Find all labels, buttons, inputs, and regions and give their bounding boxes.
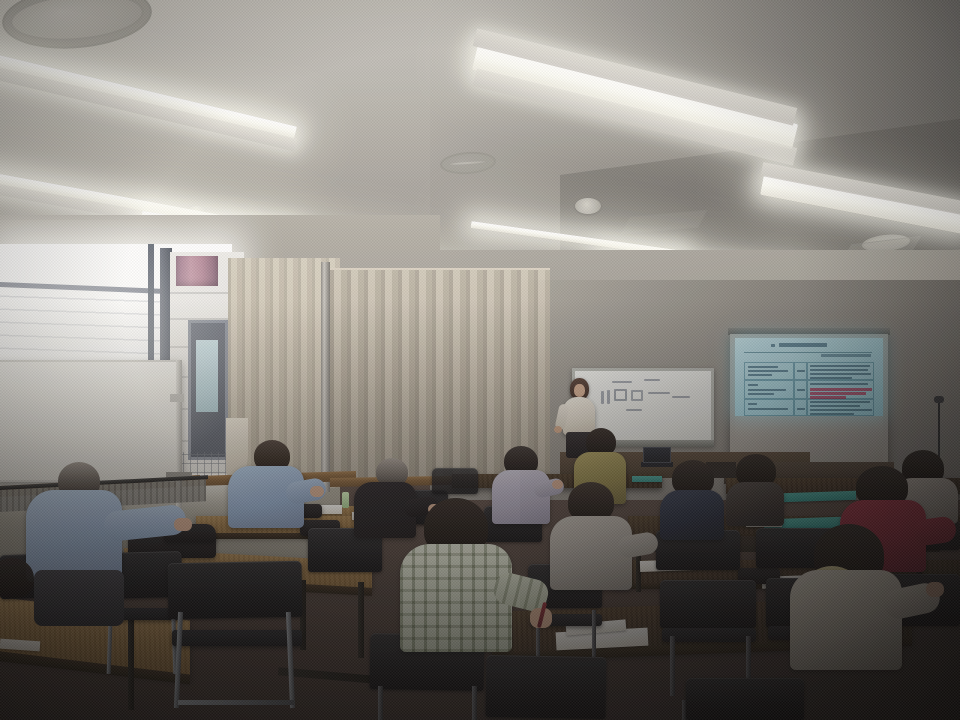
- chair-leg: [472, 686, 477, 720]
- chair: [432, 468, 478, 494]
- chair-leg: [378, 686, 383, 720]
- attendee-blue-shirt-left-trousers: [34, 570, 124, 626]
- projected-slide: [735, 338, 883, 416]
- attendee-blue-shirt-center-hand: [310, 486, 324, 497]
- presenter-body: [563, 397, 595, 435]
- slide-text-line: [810, 401, 870, 403]
- slide-text-line: [810, 365, 870, 367]
- slide-text-line: [797, 389, 805, 391]
- table-leg: [128, 620, 134, 710]
- slide-text-line: [748, 370, 788, 372]
- whiteboard-writing: [648, 392, 670, 394]
- chair: [686, 678, 804, 720]
- whiteboard-writing: [631, 390, 643, 401]
- slide-text-line: [810, 409, 872, 411]
- slide-title-bullet: [771, 344, 775, 347]
- attendee-cream-scarf-hand: [926, 582, 944, 597]
- chair-foot-rail: [178, 700, 294, 705]
- portable-display-panel: [0, 360, 182, 482]
- slide-text-line: [810, 405, 860, 407]
- whiteboard-writing: [612, 381, 632, 383]
- attendee-navy-body: [660, 490, 724, 540]
- exterior-door-glass: [196, 340, 218, 412]
- structural-column: [321, 262, 330, 492]
- slide-text-line: [748, 366, 778, 368]
- laptop-screen: [643, 447, 671, 463]
- slide-title-rule: [744, 352, 872, 353]
- slide-text-line: [810, 377, 852, 379]
- slide-text-line: [748, 374, 772, 376]
- slide-text-line: [748, 384, 758, 386]
- desk-pad-teal: [632, 476, 662, 482]
- table-leg: [358, 582, 364, 658]
- whiteboard-writing: [672, 396, 690, 398]
- attendee-blue-shirt-left-hand: [174, 518, 192, 531]
- seminar-room-photo: Seminar room lecture in progress Japanes…: [0, 0, 960, 720]
- slide-text-line: [810, 369, 868, 371]
- whiteboard-writing: [644, 379, 660, 381]
- slide-text-line: [748, 389, 786, 391]
- microphone-icon: [934, 396, 944, 403]
- chair-seat: [172, 630, 302, 646]
- slide-highlight-line: [810, 396, 846, 399]
- chair-seat: [662, 628, 756, 642]
- slide-text-line: [748, 393, 774, 395]
- whiteboard-writing: [626, 409, 642, 411]
- drink-bottle: [342, 492, 349, 508]
- chair: [168, 561, 303, 619]
- whiteboard-writing: [601, 391, 604, 404]
- smoke-detector-icon: [575, 198, 601, 214]
- whiteboard-writing: [607, 390, 610, 404]
- slide-text-line: [748, 403, 757, 405]
- slide-text-line: [797, 370, 805, 372]
- attendee-cream-scarf-body: [790, 570, 902, 670]
- slide-text-line: [748, 408, 788, 410]
- slide-highlight-line: [810, 392, 866, 395]
- whiteboard-writing: [614, 389, 627, 401]
- slide-text-line: [797, 408, 805, 410]
- chair: [660, 580, 756, 628]
- slide-highlight-line: [810, 388, 872, 391]
- slide-text-line: [810, 413, 854, 415]
- attendee-lavender-hand: [552, 480, 563, 489]
- exterior-awning: [176, 256, 218, 286]
- attendee-dark-right-body: [726, 482, 784, 526]
- slide-text-line: [810, 383, 868, 385]
- chair-leg: [670, 636, 675, 696]
- slide-title-text: [779, 343, 827, 347]
- chair: [485, 655, 606, 719]
- presenter-hand: [554, 426, 562, 433]
- presenter-face: [574, 384, 585, 397]
- slide-text-line: [810, 373, 871, 375]
- slide-subtitle-text: [821, 354, 871, 357]
- panel-clamp: [170, 394, 184, 402]
